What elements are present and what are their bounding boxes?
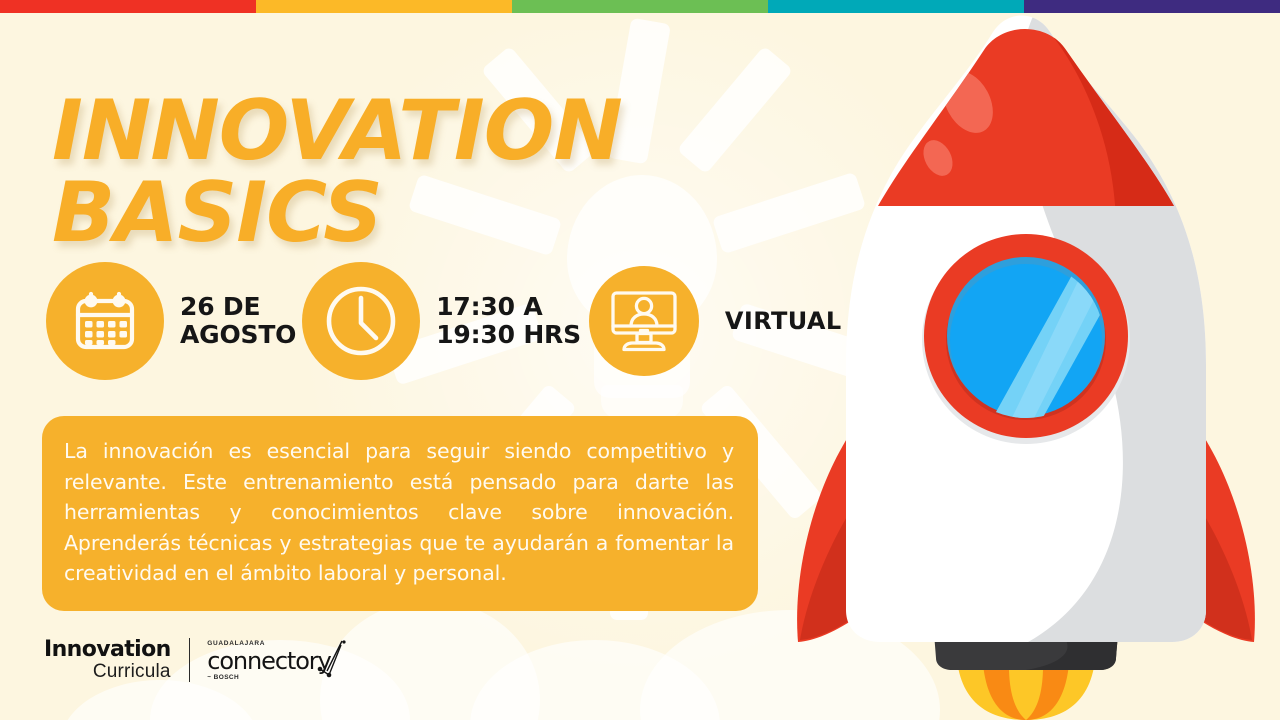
info-item-modality: VIRTUAL [589,266,842,376]
strip-segment-purple [1024,0,1280,13]
calendar-icon [72,288,138,354]
rocket-launch-illustration [786,10,1280,720]
event-info-row: 26 DE AGOSTO 17:30 A 19:30 HRS [46,262,842,380]
clock-icon [322,282,400,360]
strip-segment-red [0,0,256,13]
logo-secondary-name: connectory [207,649,330,673]
description-text: La innovación es esencial para seguir si… [64,436,734,589]
info-label-date: 26 DE AGOSTO [180,293,296,349]
page-title: INNOVATION BASICS [52,90,622,254]
info-label-time: 17:30 A 19:30 HRS [436,293,581,349]
connectory-spark-icon [314,639,348,679]
strip-segment-green [512,0,768,13]
info-item-time: 17:30 A 19:30 HRS [302,262,581,380]
footer-logos: Innovation Curricula GUADALAJARA connect… [44,638,331,682]
monitor-person-icon [608,288,680,354]
logo-secondary-byline: ~ BOSCH [207,675,330,682]
calendar-icon-badge [46,262,164,380]
logo-primary-line1: Innovation [44,639,171,661]
description-card: La innovación es esencial para seguir si… [42,416,758,611]
logo-divider [189,638,191,682]
strip-segment-yellow [256,0,512,13]
logo-primary-line2: Curricula [44,662,171,681]
top-color-strip [0,0,1280,13]
connectory-logo: GUADALAJARA connectory ~ BOSCH [207,639,330,681]
poster-canvas: INNOVATION BASICS [0,0,1280,720]
clock-icon-badge [302,262,420,380]
rocket-nose-cone [878,16,1186,230]
info-item-date: 26 DE AGOSTO [46,262,296,380]
monitor-person-icon-badge [589,266,699,376]
strip-segment-teal [768,0,1024,13]
info-label-modality: VIRTUAL [725,308,842,335]
innovation-curricula-logo: Innovation Curricula [44,639,171,681]
